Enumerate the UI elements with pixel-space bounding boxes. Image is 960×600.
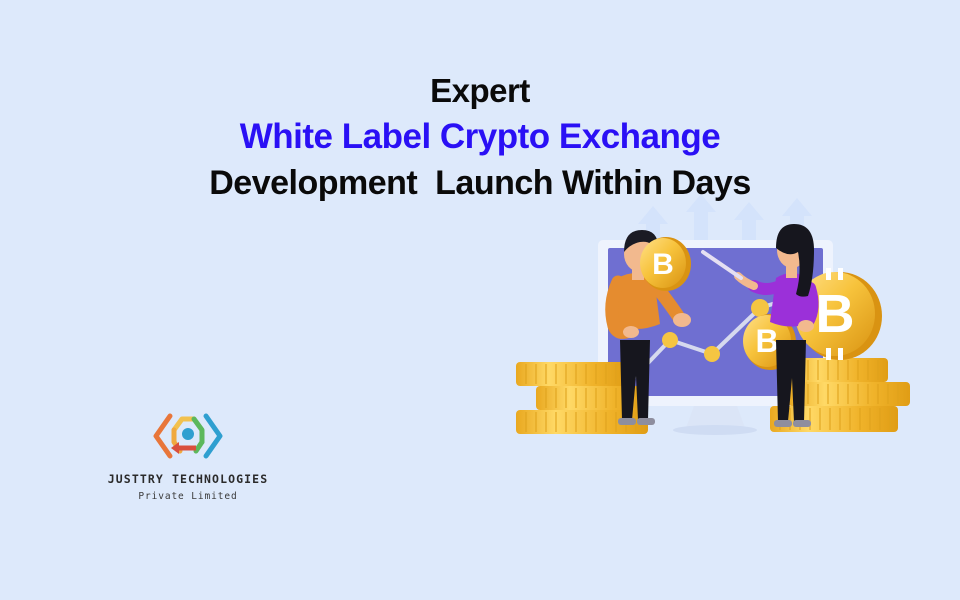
chart-node: [704, 346, 720, 362]
monitor-stand: [686, 406, 745, 428]
svg-text:B: B: [816, 284, 855, 344]
chart-node: [662, 332, 678, 348]
headline-block: Expert White Label Crypto Exchange Devel…: [0, 74, 960, 200]
svg-text:B: B: [755, 323, 778, 359]
monitor-base: [673, 425, 757, 435]
logo-company-suffix: Private Limited: [88, 491, 288, 502]
crypto-exchange-illustration: B B: [498, 190, 948, 450]
svg-text:B: B: [652, 248, 674, 281]
banner-root: Expert White Label Crypto Exchange Devel…: [0, 0, 960, 600]
logo-company-name: JUSTTRY TECHNOLOGIES: [88, 472, 288, 488]
headline-line-2-highlight: White Label Crypto Exchange: [0, 119, 960, 154]
company-logo: JUSTTRY TECHNOLOGIES Private Limited: [88, 408, 288, 502]
headline-line-1: Expert: [0, 74, 960, 107]
justtry-hexagon-logo-icon: [150, 408, 226, 464]
